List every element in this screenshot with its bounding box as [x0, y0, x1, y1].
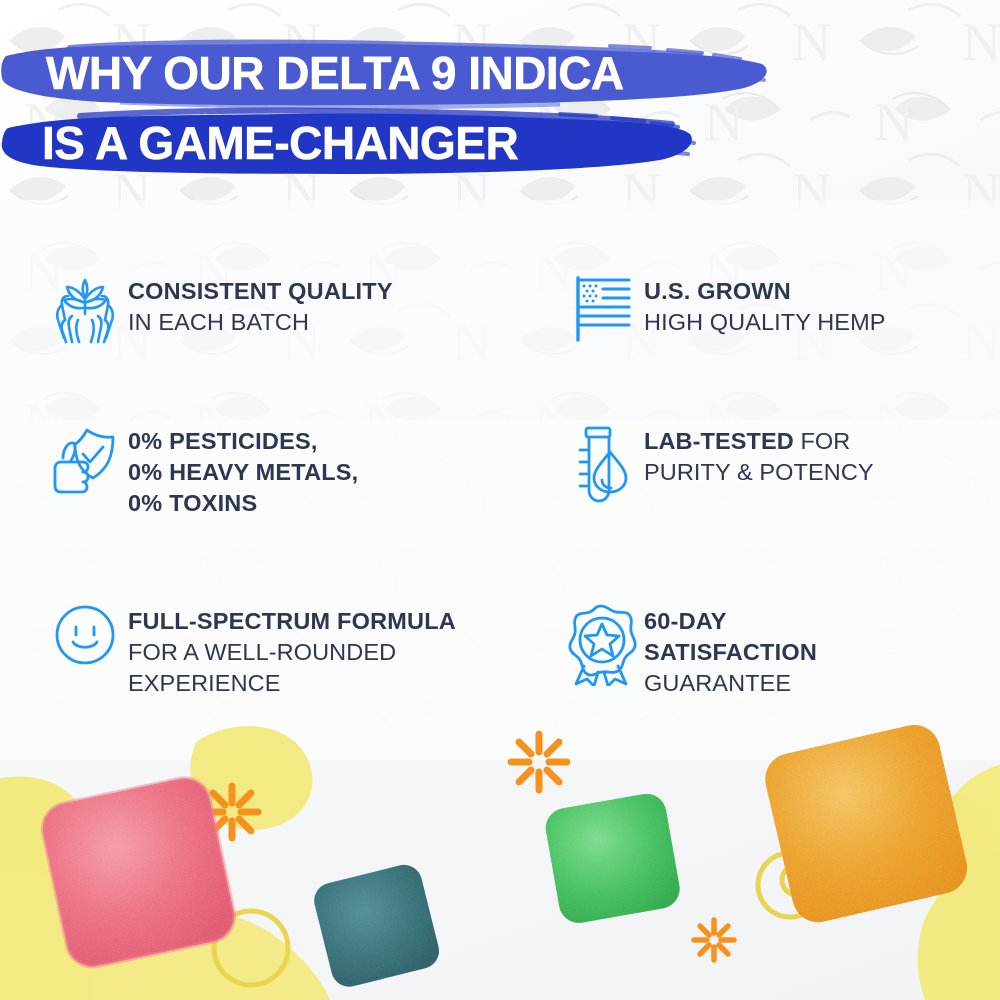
test-tube-droplet-icon: [558, 420, 644, 508]
feature-text: LAB-TESTED FOR PURITY & POTENCY: [644, 420, 874, 488]
feature-row-1: CONSISTENT QUALITY IN EACH BATCH: [0, 270, 1000, 420]
feature-line: LAB-TESTED FOR: [644, 426, 874, 457]
feature-line: U.S. GROWN: [644, 276, 886, 307]
feature-line-bold: LAB-TESTED: [644, 428, 794, 454]
feature-grid: CONSISTENT QUALITY IN EACH BATCH: [0, 270, 1000, 720]
headline-line-2: IS A GAME-CHANGER: [42, 120, 518, 166]
feature-line: FULL-SPECTRUM FORMULA: [128, 606, 456, 637]
orange-sparkle-bottom: [694, 920, 734, 960]
smiley-face-icon: [42, 600, 128, 668]
headline-block: WHY OUR DELTA 9 INDICA IS A GAME-CHANGER: [0, 36, 1000, 180]
feature-line: GUARANTEE: [644, 668, 817, 699]
feature-text: U.S. GROWN HIGH QUALITY HEMP: [644, 270, 886, 338]
pink-gummy: [36, 775, 246, 975]
feature-satisfaction-guarantee: 60-DAY SATISFACTION GUARANTEE: [545, 600, 1000, 720]
feature-line: HIGH QUALITY HEMP: [644, 307, 886, 338]
feature-line: 60-DAY: [644, 606, 817, 637]
feature-zero-contaminants: 0% PESTICIDES, 0% HEAVY METALS, 0% TOXIN…: [0, 420, 545, 600]
feature-line: EXPERIENCE: [128, 668, 456, 699]
feature-us-grown: U.S. GROWN HIGH QUALITY HEMP: [545, 270, 1000, 420]
feature-line: IN EACH BATCH: [128, 307, 393, 338]
feature-row-3: FULL-SPECTRUM FORMULA FOR A WELL-ROUNDED…: [0, 600, 1000, 720]
feature-full-spectrum: FULL-SPECTRUM FORMULA FOR A WELL-ROUNDED…: [0, 600, 545, 720]
us-flag-icon: [558, 270, 644, 346]
feature-text: FULL-SPECTRUM FORMULA FOR A WELL-ROUNDED…: [128, 600, 456, 698]
feature-lab-tested: LAB-TESTED FOR PURITY & POTENCY: [545, 420, 1000, 600]
feature-text: 0% PESTICIDES, 0% HEAVY METALS, 0% TOXIN…: [128, 420, 358, 518]
hands-holding-leaf-icon: [42, 270, 128, 346]
orange-sparkle-middle: [511, 734, 567, 790]
feature-text: 60-DAY SATISFACTION GUARANTEE: [644, 600, 817, 698]
teal-gummy: [310, 862, 450, 992]
feature-line: SATISFACTION: [644, 637, 817, 668]
headline-line-1: WHY OUR DELTA 9 INDICA: [46, 50, 624, 96]
feature-row-2: 0% PESTICIDES, 0% HEAVY METALS, 0% TOXIN…: [0, 420, 1000, 600]
orange-gummy: [762, 725, 977, 930]
feature-consistent-quality: CONSISTENT QUALITY IN EACH BATCH: [0, 270, 545, 420]
feature-line: PURITY & POTENCY: [644, 457, 874, 488]
feature-line: CONSISTENT QUALITY: [128, 276, 393, 307]
feature-line: 0% HEAVY METALS,: [128, 457, 358, 488]
feature-line: FOR A WELL-ROUNDED: [128, 637, 456, 668]
headline-band-1: WHY OUR DELTA 9 INDICA: [0, 36, 1000, 110]
feature-line: 0% PESTICIDES,: [128, 426, 358, 457]
feature-text: CONSISTENT QUALITY IN EACH BATCH: [128, 270, 393, 338]
award-rosette-star-icon: [558, 600, 644, 686]
green-gummy: [540, 790, 690, 930]
headline-band-2: IS A GAME-CHANGER: [0, 106, 1000, 180]
feature-line-normal: FOR: [794, 428, 851, 454]
thumbs-up-shield-check-icon: [42, 420, 128, 504]
feature-line: 0% TOXINS: [128, 488, 358, 519]
infographic-canvas: N: [0, 0, 1000, 1000]
